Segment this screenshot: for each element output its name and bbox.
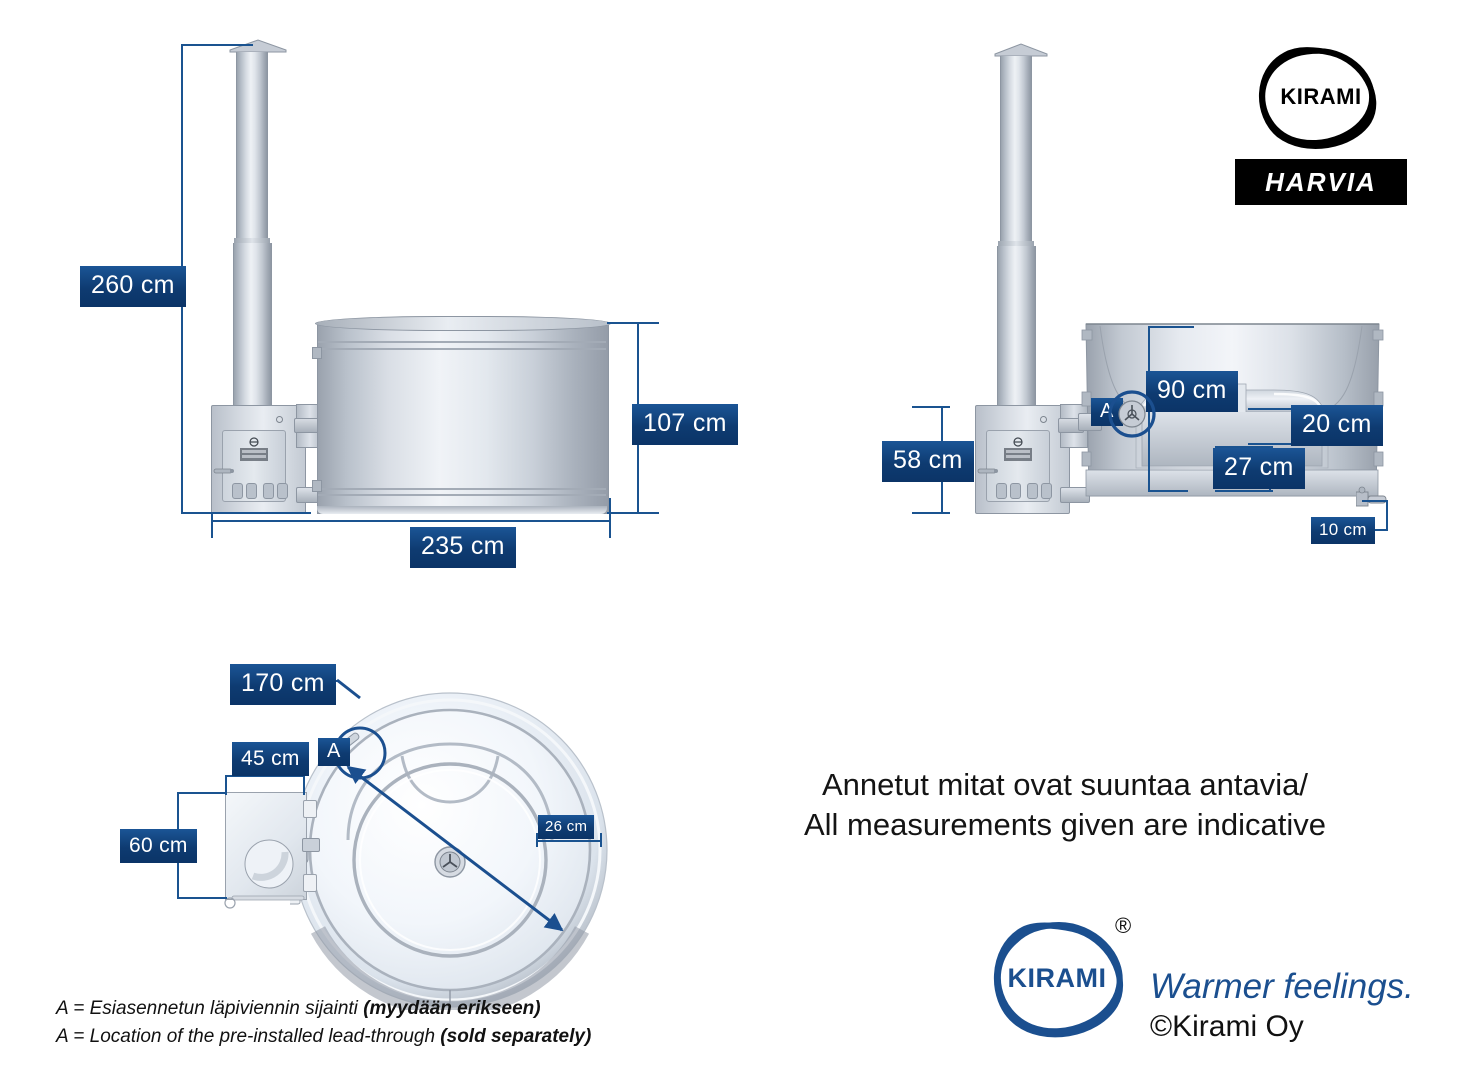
dim-tick-107-top: [607, 322, 659, 324]
legend-block: A = Esiasennetun läpiviennin sijainti (m…: [56, 995, 591, 1050]
kirami-logo-icon: KIRAMI: [1235, 29, 1407, 159]
legend-line-fi: A = Esiasennetun läpiviennin sijainti (m…: [56, 995, 591, 1023]
stove-vent-slot: [277, 483, 288, 499]
legend-en-bold: (sold separately): [440, 1026, 591, 1047]
indicative-note-en: All measurements given are indicative: [720, 805, 1410, 845]
stove-vent-slot: [263, 483, 274, 499]
legend-line-en: A = Location of the pre-installed lead-t…: [56, 1023, 591, 1051]
stove-vent-slot: [232, 483, 243, 499]
dim-tick-90-top: [1148, 326, 1194, 328]
dim-tick-58-bottom: [912, 512, 950, 514]
section-stove-door-handle-icon: [976, 466, 1000, 478]
dim-line-10-vertical: [1386, 500, 1388, 530]
tub-band-lower: [318, 488, 606, 490]
dim-line-235-horizontal: [211, 520, 611, 522]
tub-band-upper: [318, 341, 606, 343]
section-stove-screw-icon: [1040, 416, 1047, 423]
section-stove-door-badge-icon: [1002, 437, 1034, 463]
brand-tagline: Warmer feelings.: [1150, 967, 1414, 1007]
dim-tick-235-right: [609, 498, 611, 538]
section-stove-vent-slot: [1041, 483, 1052, 499]
section-chimney-lower: [997, 246, 1036, 409]
legend-fi-bold: (myydään erikseen): [363, 998, 540, 1019]
chimney-upper-pipe: [236, 52, 268, 242]
kirami-badge-wordmark: KIRAMI: [1280, 84, 1361, 109]
dim-tick-60-top: [177, 792, 227, 794]
tub-band-lower2: [318, 494, 606, 496]
section-chimney-upper: [1000, 56, 1032, 246]
dim-label-chimney-height: 260 cm: [80, 266, 186, 307]
chimney-lower-pipe: [233, 243, 272, 409]
stove-door-handle-icon: [212, 466, 236, 478]
indicative-measurements-note: Annetut mitat ovat suuntaa antavia/ All …: [720, 765, 1410, 844]
tub-band-upper2: [318, 348, 606, 350]
drawing-canvas: 260 cm 107 cm 235 cm: [0, 0, 1467, 1066]
harvia-wordmark: HARVIA: [1235, 159, 1407, 205]
dim-tick-27-bottom: [1215, 490, 1273, 492]
tub-lug-upper: [312, 347, 322, 359]
kirami-harvia-badge: KIRAMI HARVIA: [1235, 29, 1407, 205]
drain-valve-icon: [1356, 486, 1390, 512]
dim-label-total-width: 235 cm: [410, 527, 516, 568]
registered-trademark-icon: ®: [1115, 913, 1131, 939]
dim-label-tub-diameter: 170 cm: [230, 664, 336, 705]
dim-label-stove-depth: 60 cm: [120, 829, 197, 863]
dim-label-stove-width: 45 cm: [232, 742, 309, 776]
dim-label-drain-height: 10 cm: [1311, 517, 1375, 544]
dim-label-footwell-depth: 27 cm: [1213, 448, 1305, 489]
legend-fi-text: A = Esiasennetun läpiviennin sijainti: [56, 998, 363, 1019]
dim-label-seat-depth: 20 cm: [1291, 405, 1383, 446]
dim-label-tub-height: 107 cm: [632, 404, 738, 445]
stove-screw-icon: [276, 416, 283, 423]
section-stove-vent-slot: [1027, 483, 1038, 499]
kirami-footer-wordmark: KIRAMI: [1008, 963, 1107, 993]
stove-top-lid-icon: [243, 838, 295, 890]
stove-door-badge-icon: [238, 437, 270, 463]
legend-en-text: A = Location of the pre-installed lead-t…: [56, 1026, 440, 1047]
section-stove-vent-slot: [996, 483, 1007, 499]
section-stove-vent-slot: [1010, 483, 1021, 499]
stove-vent-slot: [246, 483, 257, 499]
dim-tick-235-left: [211, 512, 213, 538]
dim-label-inner-diameter: 90 cm: [1146, 371, 1238, 412]
indicative-note-fi: Annetut mitat ovat suuntaa antavia/: [720, 765, 1410, 805]
tub-base-shadow: [317, 506, 607, 514]
dim-tick-60-bottom: [177, 897, 227, 899]
dim-tick-260-top: [181, 44, 253, 46]
section-marker-a-circle-icon: [1107, 389, 1157, 439]
tub-shell-side: [317, 322, 609, 514]
dim-tick-260-bottom: [181, 512, 311, 514]
tub-rim-side: [315, 316, 611, 331]
dim-label-stove-top-height: 58 cm: [882, 441, 974, 482]
dim-tick-10-top: [1362, 500, 1388, 502]
top-marker-a-badge: A: [318, 738, 350, 766]
tub-lug-lower: [312, 480, 322, 492]
dim-tick-107-bottom: [607, 512, 659, 514]
dim-tick-90-bottom: [1148, 490, 1188, 492]
dim-label-rim-width: 26 cm: [538, 815, 594, 839]
copyright-line: ©Kirami Oy: [1150, 1010, 1304, 1044]
dim-tick-58-top: [912, 406, 950, 408]
